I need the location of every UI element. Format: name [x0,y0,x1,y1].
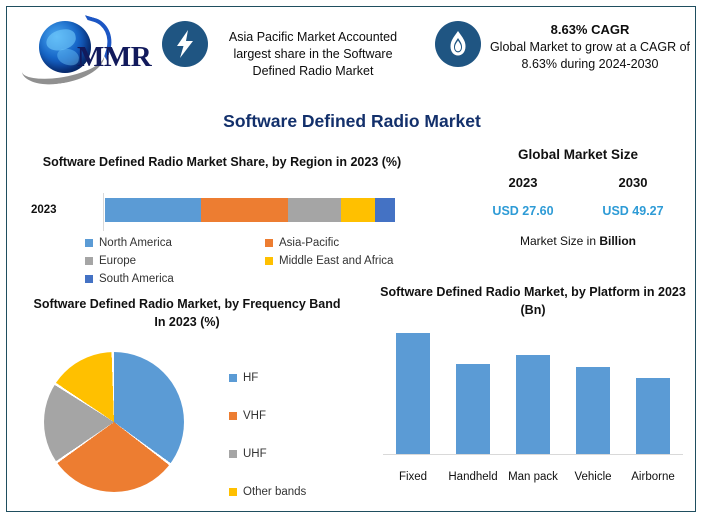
bar-segment-middle-east-africa [341,198,374,222]
legend-swatch-icon [85,239,93,247]
legend-row: North America Asia-Pacific [85,235,445,251]
axis-label-vehicle: Vehicle [563,471,623,483]
region-category-label: 2023 [31,204,57,216]
legend-label: Europe [99,255,136,267]
platform-column-handheld [443,324,503,454]
market-size-year-2030: 2030 [578,175,688,190]
bar-handheld [456,364,490,454]
legend-swatch-icon [229,412,237,420]
legend-label: North America [99,237,172,249]
legend-swatch-icon [265,257,273,265]
mmr-logo: MMR [15,13,155,81]
page-title: Software Defined Radio Market [7,111,697,132]
platform-chart-title: Software Defined Radio Market, by Platfo… [373,283,693,319]
bar-segment-south-america [375,198,395,222]
region-bar [105,198,395,222]
axis-label-handheld: Handheld [443,471,503,483]
market-size-unit-note: Market Size in Billion [459,234,697,248]
global-market-size-panel: Global Market Size 2023 2030 USD 27.60 U… [459,147,697,248]
lightning-bolt-icon [162,21,208,67]
legend-label: Other bands [243,486,306,498]
legend-swatch-icon [85,257,93,265]
legend-label: South America [99,273,174,285]
bar-man-pack [516,355,550,454]
market-size-value-2023: USD 27.60 [468,204,578,218]
axis-label-man-pack: Man pack [503,471,563,483]
legend-item-vhf: VHF [229,397,306,435]
frequency-chart-title: Software Defined Radio Market, by Freque… [27,295,347,331]
platform-column-man-pack [503,324,563,454]
flame-icon [435,21,481,67]
frequency-pie-chart [44,352,184,492]
legend-swatch-icon [265,239,273,247]
unit-note-unit: Billion [599,234,636,248]
platform-axis-labels: Fixed Handheld Man pack Vehicle Airborne [383,471,683,483]
axis-label-airborne: Airborne [623,471,683,483]
legend-label: HF [243,372,258,384]
market-size-value-2030: USD 49.27 [578,204,688,218]
legend-swatch-icon [85,275,93,283]
axis-label-fixed: Fixed [383,471,443,483]
content-frame: MMR Asia Pacific Market Accounted larges… [6,6,696,512]
bar-vehicle [576,367,610,454]
region-chart-title: Software Defined Radio Market Share, by … [37,153,407,171]
region-axis-line [103,193,104,231]
legend-item-other-bands: Other bands [229,473,306,511]
platform-bars [383,324,683,454]
asia-pacific-note: Asia Pacific Market Accounted largest sh… [213,29,413,80]
cagr-note: 8.63% CAGR Global Market to grow at a CA… [487,21,693,73]
platform-column-airborne [623,324,683,454]
bar-airborne [636,378,670,454]
cagr-value: 8.63% CAGR [487,21,693,38]
legend-item-hf: HF [229,359,306,397]
platform-column-vehicle [563,324,623,454]
infographic-page: MMR Asia Pacific Market Accounted larges… [0,0,704,520]
unit-note-prefix: Market Size in [520,234,599,248]
legend-item-asia-pacific: Asia-Pacific [265,237,445,249]
legend-label: VHF [243,410,266,422]
legend-item-middle-east-africa: Middle East and Africa [265,255,445,267]
global-market-size-values: USD 27.60 USD 49.27 [459,204,697,218]
legend-swatch-icon [229,488,237,496]
global-market-size-years: 2023 2030 [459,175,697,190]
region-legend: North America Asia-Pacific Europe Middle… [85,235,445,289]
cagr-description: Global Market to grow at a CAGR of 8.63%… [490,40,690,71]
bar-segment-asia-pacific [201,198,288,222]
legend-item-south-america: South America [85,273,265,285]
global-market-size-title: Global Market Size [459,147,697,162]
legend-label: Middle East and Africa [279,255,393,267]
legend-label: UHF [243,448,267,460]
logo-text: MMR [77,41,151,74]
legend-item-uhf: UHF [229,435,306,473]
legend-row: Europe Middle East and Africa [85,253,445,269]
legend-swatch-icon [229,374,237,382]
legend-item-europe: Europe [85,255,265,267]
market-size-year-2023: 2023 [468,175,578,190]
bar-fixed [396,333,430,454]
legend-swatch-icon [229,450,237,458]
platform-column-fixed [383,324,443,454]
platform-axis-line [383,454,683,455]
legend-label: Asia-Pacific [279,237,339,249]
platform-bar-chart: Fixed Handheld Man pack Vehicle Airborne [383,319,683,509]
legend-item-north-america: North America [85,237,265,249]
region-stacked-bar-chart: 2023 [27,193,397,233]
bar-segment-europe [288,198,342,222]
header: MMR Asia Pacific Market Accounted larges… [7,7,697,91]
bar-segment-north-america [105,198,201,222]
frequency-legend: HF VHF UHF Other bands [229,359,306,511]
